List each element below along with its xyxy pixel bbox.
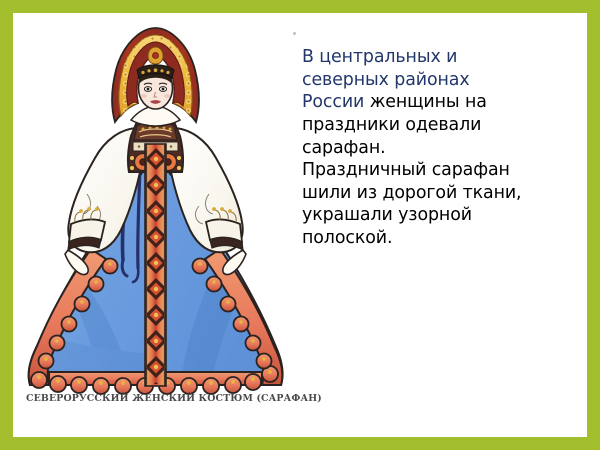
frame-border-left [0, 0, 13, 450]
text-line-4: праздники одевали [302, 114, 570, 137]
body-text-block: В центральных и северных районах России … [302, 46, 570, 250]
costume-illustration [13, 16, 298, 434]
text-line-3-navy: России [302, 92, 364, 112]
text-line-9: полоской. [302, 227, 570, 250]
frame-border-right [587, 0, 600, 450]
image-speck [293, 32, 296, 35]
text-line-3-black: женщины на [364, 92, 487, 112]
frame-border-top [0, 0, 600, 13]
frame-border-bottom [0, 437, 600, 450]
slide-root: СЕВЕРОРУССКИЙ ЖЕНСКИЙ КОСТЮМ (САРАФАН) В… [0, 0, 600, 450]
text-line-2: северных районах [302, 69, 570, 92]
text-line-1: В центральных и [302, 46, 570, 69]
text-line-5: сарафан. [302, 137, 570, 160]
text-line-7: шили из дорогой ткани, [302, 182, 570, 205]
text-line-8: украшали узорной [302, 204, 570, 227]
text-line-3: России женщины на [302, 91, 570, 114]
decorative-front-stripe [145, 144, 166, 386]
text-line-6: Праздничный сарафан [302, 159, 570, 182]
illustration-caption: СЕВЕРОРУССКИЙ ЖЕНСКИЙ КОСТЮМ (САРАФАН) [26, 393, 286, 404]
